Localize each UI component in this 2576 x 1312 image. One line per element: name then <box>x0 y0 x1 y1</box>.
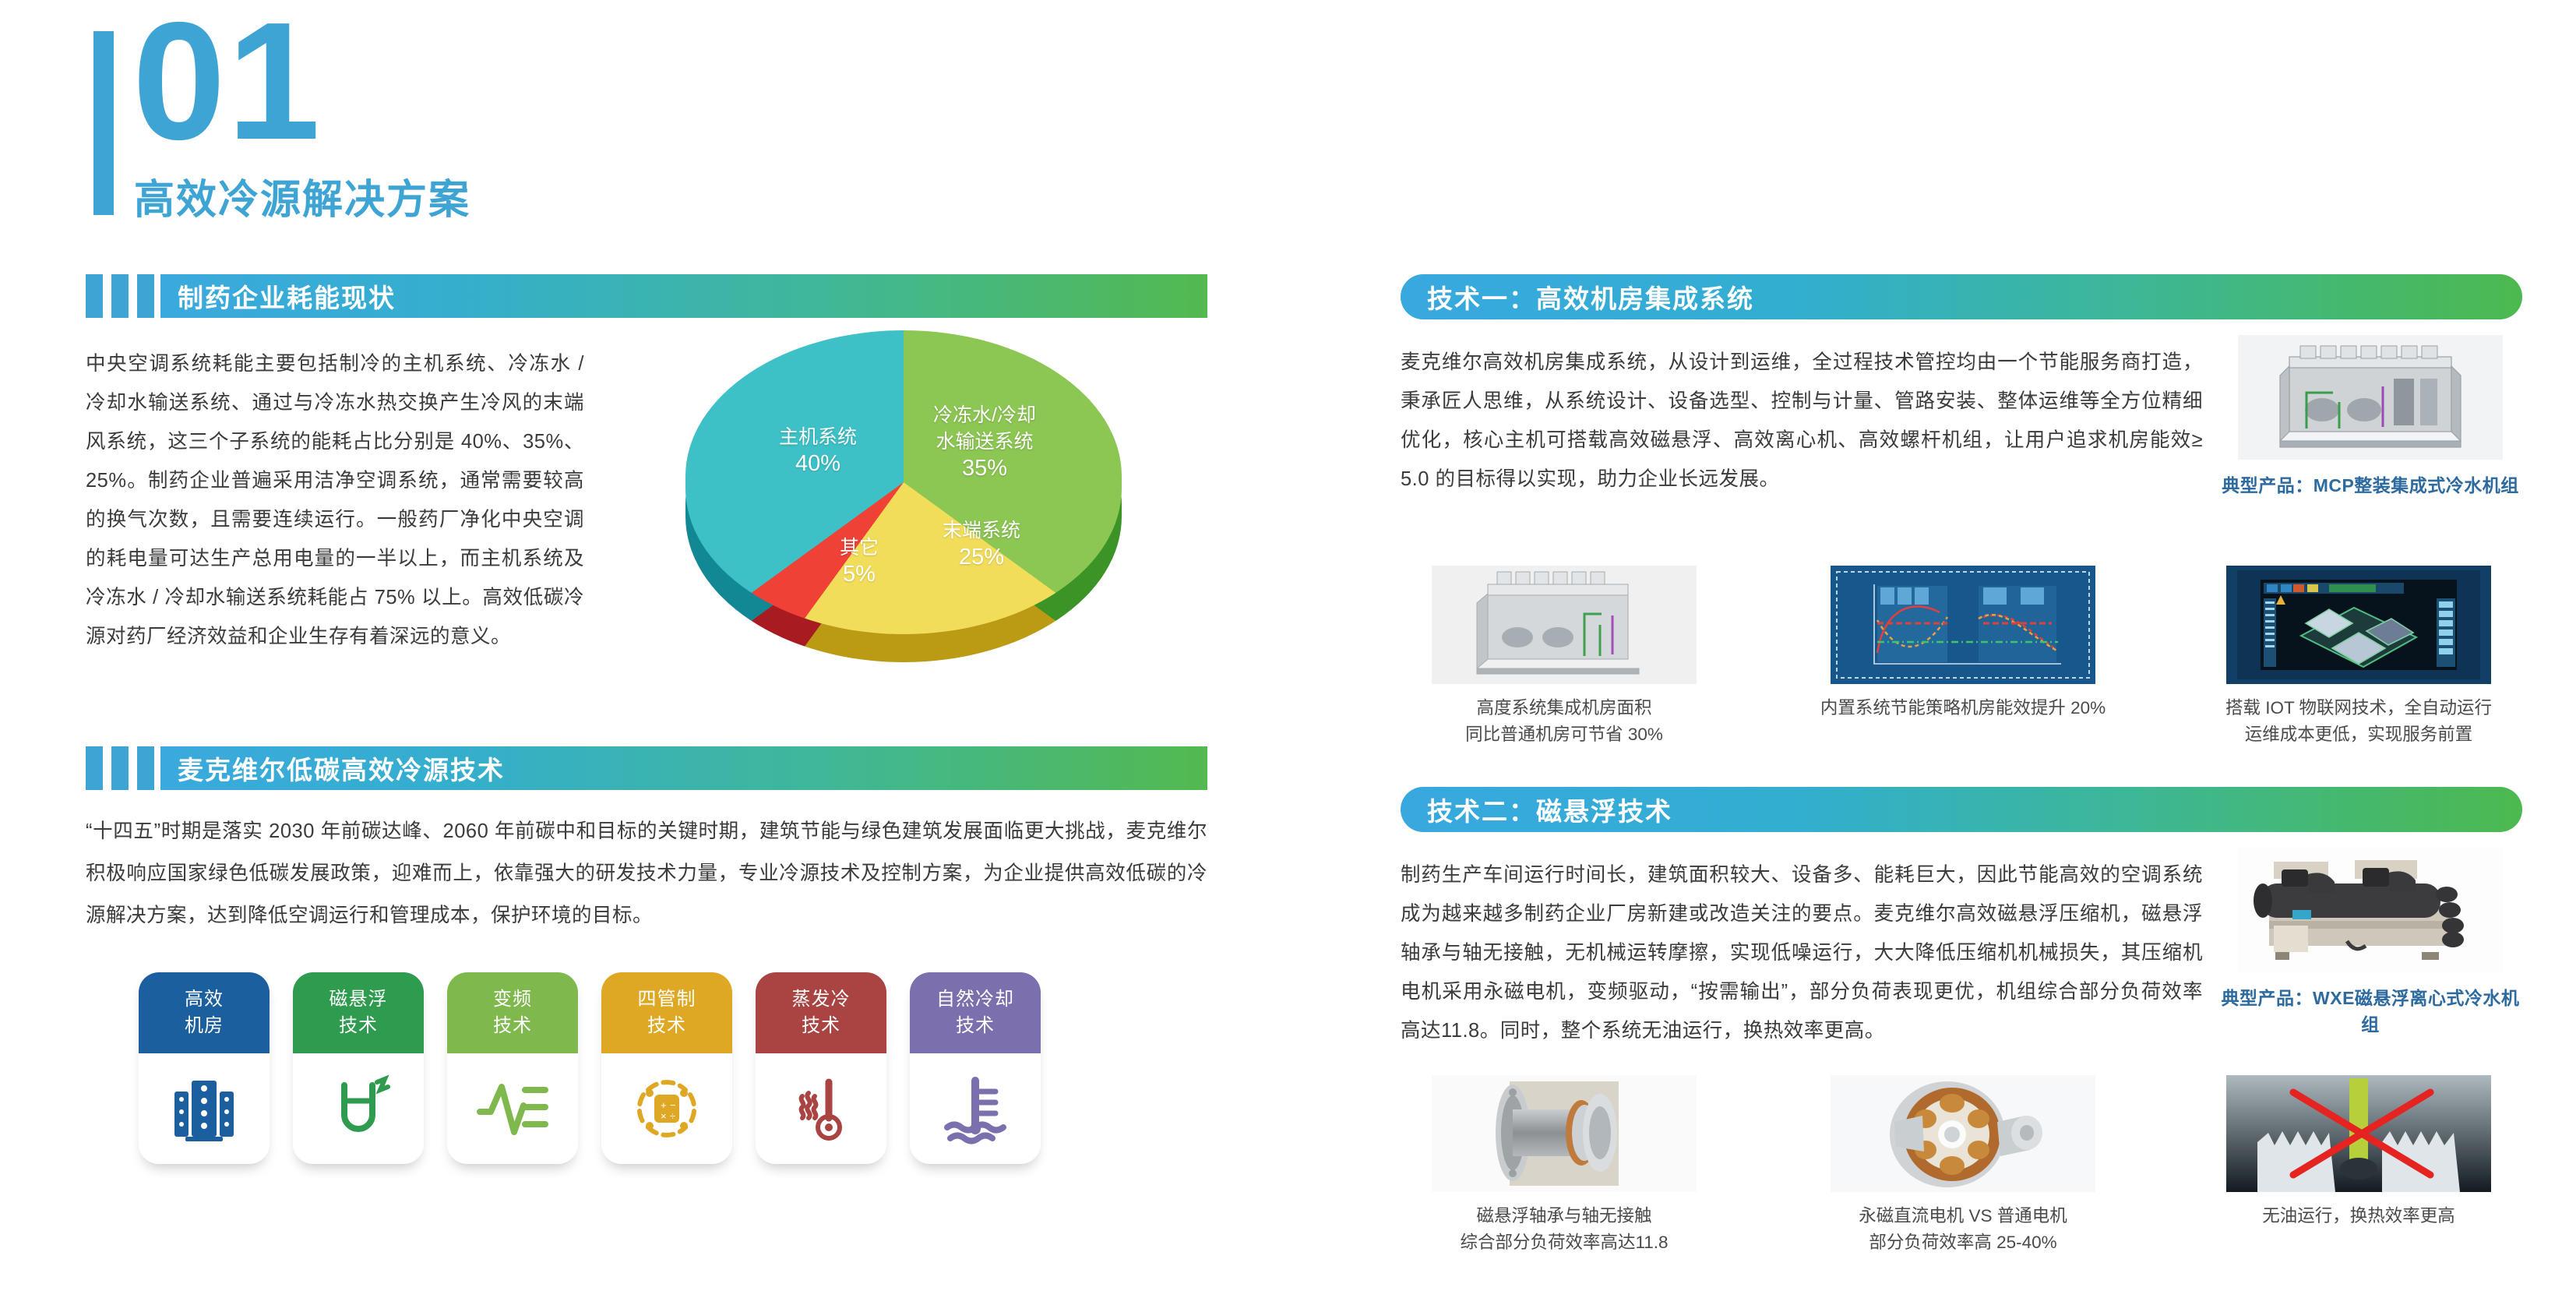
tech2-paragraph: 制药生产车间运行时间长，建筑面积较大、设备多、能耗巨大，因此节能高效的空调系统成… <box>1401 855 2203 1050</box>
caption-line1: 内置系统节能策略机房能效提升 20% <box>1820 698 2106 718</box>
svg-text:÷: ÷ <box>670 1110 675 1122</box>
section-title: 技术一：高效机房集成系统 <box>1427 278 1754 316</box>
tech-card-line1: 自然冷却 <box>936 989 1014 1010</box>
pie-slice-value: 40% <box>779 450 857 477</box>
tech2-gallery-item: 磁悬浮轴承与轴无接触 综合部分负荷效率高达11.8 <box>1401 1075 1728 1256</box>
left-column: 制药企业耗能现状 中央空调系统耗能主要包括制冷的主机系统、冷冻水 / 冷却水输送… <box>86 274 1207 1176</box>
wxe-chiller-photo <box>2238 848 2503 972</box>
tech-card-line2: 技术 <box>339 1015 378 1036</box>
thermometer-icon <box>756 1053 886 1164</box>
tech-card-magnetic-bearing[interactable]: 磁悬浮技术 <box>293 972 424 1164</box>
pie-slice-name: 主机系统 <box>779 424 857 450</box>
section-header-tech1: 技术一：高效机房集成系统 <box>1401 274 2522 319</box>
tech-card-variable-frequency[interactable]: 变频技术 <box>447 972 578 1164</box>
pie-slice-value: 25% <box>943 544 1020 570</box>
tech1-gallery-item: 内置系统节能策略机房能效提升 20% <box>1799 566 2127 721</box>
tech-card-caption: 四管制技术 <box>601 972 732 1053</box>
pm-motor-photo <box>1831 1075 2095 1192</box>
svg-text:×: × <box>661 1110 667 1122</box>
tech-card-caption: 自然冷却技术 <box>910 972 1041 1053</box>
tech-card-caption: 变频技术 <box>447 972 578 1053</box>
tech1-product-caption: 典型产品：MCP整装集成式冷水机组 <box>2218 471 2522 497</box>
tech2-gallery-caption: 磁悬浮轴承与轴无接触 综合部分负荷效率高达11.8 <box>1401 1203 1728 1256</box>
energy-status-paragraph: 中央空调系统耗能主要包括制冷的主机系统、冷冻水 / 冷却水输送系统、通过与冷冻水… <box>86 344 584 656</box>
lowcarbon-tech-paragraph: “十四五”时期是落实 2030 年前碳达峰、2060 年前碳中和目标的关键时期，… <box>86 810 1207 936</box>
tech1-gallery-item: 高度系统集成机房面积 同比普通机房可节省 30% <box>1401 566 1728 748</box>
caption-line1: 无油运行，换热效率更高 <box>2262 1206 2455 1226</box>
magnet-icon <box>293 1053 424 1164</box>
tech1-product: 典型产品：MCP整装集成式冷水机组 <box>2218 335 2522 497</box>
technology-card-list: 高效机房 磁悬浮技术 <box>86 972 1207 1176</box>
tech2-content: 制药生产车间运行时间长，建筑面积较大、设备多、能耗巨大，因此节能高效的空调系统成… <box>1401 854 2522 1088</box>
tech-card-line1: 变频 <box>493 989 532 1010</box>
tech-card-line1: 高效 <box>185 989 224 1010</box>
tech-card-line2: 机房 <box>185 1015 224 1036</box>
waveform-icon <box>447 1053 578 1164</box>
tech1-gallery: 高度系统集成机房面积 同比普通机房可节省 30% <box>1401 566 2522 760</box>
tech-card-line1: 四管制 <box>638 989 696 1010</box>
tech1-gallery-caption: 高度系统集成机房面积 同比普通机房可节省 30% <box>1401 695 1728 748</box>
tech-card-four-pipe[interactable]: 四管制技术 + − × ÷ <box>601 972 732 1164</box>
section-header-lowcarbon-tech: 麦克维尔低碳高效冷源技术 <box>86 746 1207 790</box>
pie-slice-name: 其它 <box>840 534 879 561</box>
energy-status-content: 中央空调系统耗能主要包括制冷的主机系统、冷冻水 / 冷却水输送系统、通过与冷冻水… <box>86 338 1207 697</box>
section-title: 制药企业耗能现状 <box>178 277 396 315</box>
caption-line1: 搭载 IOT 物联网技术，全自动运行 <box>2225 698 2492 718</box>
tech2-gallery-caption: 无油运行，换热效率更高 <box>2195 1203 2522 1229</box>
iot-dashboard-photo <box>2226 566 2491 684</box>
tech-card-caption: 高效机房 <box>139 972 270 1053</box>
tech2-gallery: 磁悬浮轴承与轴无接触 综合部分负荷效率高达11.8 <box>1401 1075 2522 1270</box>
water-thermometer-icon <box>910 1053 1041 1164</box>
calculator-icon: + − × ÷ <box>601 1053 732 1164</box>
tech-card-caption: 磁悬浮技术 <box>293 972 424 1053</box>
caption-line2: 部分负荷效率高 25-40% <box>1869 1233 2056 1252</box>
energy-strategy-chart <box>1831 566 2095 684</box>
tech2-gallery-caption: 永磁直流电机 VS 普通电机 部分负荷效率高 25-40% <box>1799 1203 2127 1256</box>
tech1-gallery-caption: 搭载 IOT 物联网技术，全自动运行 运维成本更低，实现服务前置 <box>2195 695 2522 748</box>
pie-slice-name: 末端系统 <box>943 517 1020 544</box>
page-header: 01 高效冷源解决方案 <box>93 14 795 217</box>
mcp-chiller-photo <box>2238 335 2503 460</box>
tech1-content: 麦克维尔高效机房集成系统，从设计到运维，全过程技术管控均由一个节能服务商打造，秉… <box>1401 341 2522 552</box>
pie-surface <box>685 330 1122 634</box>
pie-label-water-transport: 冷冻水/冷却水输送系统 35% <box>933 402 1036 481</box>
tech-card-free-cooling[interactable]: 自然冷却技术 <box>910 972 1041 1164</box>
caption-line2: 运维成本更低，实现服务前置 <box>2245 725 2473 744</box>
tech2-product: 典型产品：WXE磁悬浮离心式冷水机组 <box>2218 848 2522 1036</box>
section-title: 麦克维尔低碳高效冷源技术 <box>178 749 505 787</box>
section-title: 技术二：磁悬浮技术 <box>1427 791 1672 828</box>
svg-text:−: − <box>670 1099 676 1111</box>
tech-card-evaporative-cooling[interactable]: 蒸发冷技术 <box>756 972 886 1164</box>
caption-line2: 综合部分负荷效率高达11.8 <box>1460 1233 1668 1252</box>
energy-pie-chart: 主机系统 40% 冷冻水/冷却水输送系统 35% 末端系统 25% 其它 5% <box>631 307 1207 665</box>
tech1-gallery-caption: 内置系统节能策略机房能效提升 20% <box>1799 695 2127 721</box>
mcp-module-photo <box>1432 566 1697 684</box>
tech-card-line2: 技术 <box>493 1015 532 1036</box>
tech1-paragraph: 麦克维尔高效机房集成系统，从设计到运维，全过程技术管控均由一个节能服务商打造，秉… <box>1401 343 2203 499</box>
header-accent-bar <box>93 31 114 215</box>
tech-card-high-efficiency-plantroom[interactable]: 高效机房 <box>139 972 270 1164</box>
page-number: 01 <box>132 0 322 164</box>
section-header-tech2: 技术二：磁悬浮技术 <box>1401 787 2522 832</box>
caption-line2: 同比普通机房可节省 30% <box>1465 725 1663 744</box>
oil-free-gears-photo <box>2226 1075 2491 1192</box>
pie-slice-value: 35% <box>933 455 1036 481</box>
tech1-gallery-item: 搭载 IOT 物联网技术，全自动运行 运维成本更低，实现服务前置 <box>2195 566 2522 748</box>
tech-card-caption: 蒸发冷技术 <box>756 972 886 1053</box>
magnetic-bearing-photo <box>1432 1075 1697 1192</box>
page-title: 高效冷源解决方案 <box>134 167 470 225</box>
tech-card-line2: 技术 <box>956 1015 995 1036</box>
tech2-product-caption: 典型产品：WXE磁悬浮离心式冷水机组 <box>2218 983 2522 1036</box>
caption-line1: 永磁直流电机 VS 普通电机 <box>1859 1206 2067 1226</box>
tech-card-line1: 蒸发冷 <box>792 989 851 1010</box>
tech-card-line2: 技术 <box>647 1015 686 1036</box>
pie-slice-value: 5% <box>840 561 879 587</box>
tech2-gallery-item: 无油运行，换热效率更高 <box>2195 1075 2522 1229</box>
server-rack-icon <box>139 1053 270 1164</box>
caption-line1: 高度系统集成机房面积 <box>1476 698 1651 718</box>
pie-label-other: 其它 5% <box>840 534 879 587</box>
section-bars-icon <box>86 274 160 318</box>
right-column: 技术一：高效机房集成系统 麦克维尔高效机房集成系统，从设计到运维，全过程技术管控… <box>1401 274 2522 1270</box>
tech2-gallery-item: 永磁直流电机 VS 普通电机 部分负荷效率高 25-40% <box>1799 1075 2127 1256</box>
section-bars-icon <box>86 746 160 790</box>
svg-text:+: + <box>661 1099 667 1111</box>
caption-line1: 磁悬浮轴承与轴无接触 <box>1476 1206 1651 1226</box>
pie-slice-name: 冷冻水/冷却水输送系统 <box>933 402 1036 455</box>
pie-label-terminal-system: 末端系统 25% <box>943 517 1020 570</box>
pie-label-host-system: 主机系统 40% <box>779 424 857 477</box>
tech-card-line1: 磁悬浮 <box>329 989 388 1010</box>
tech-card-line2: 技术 <box>802 1015 840 1036</box>
